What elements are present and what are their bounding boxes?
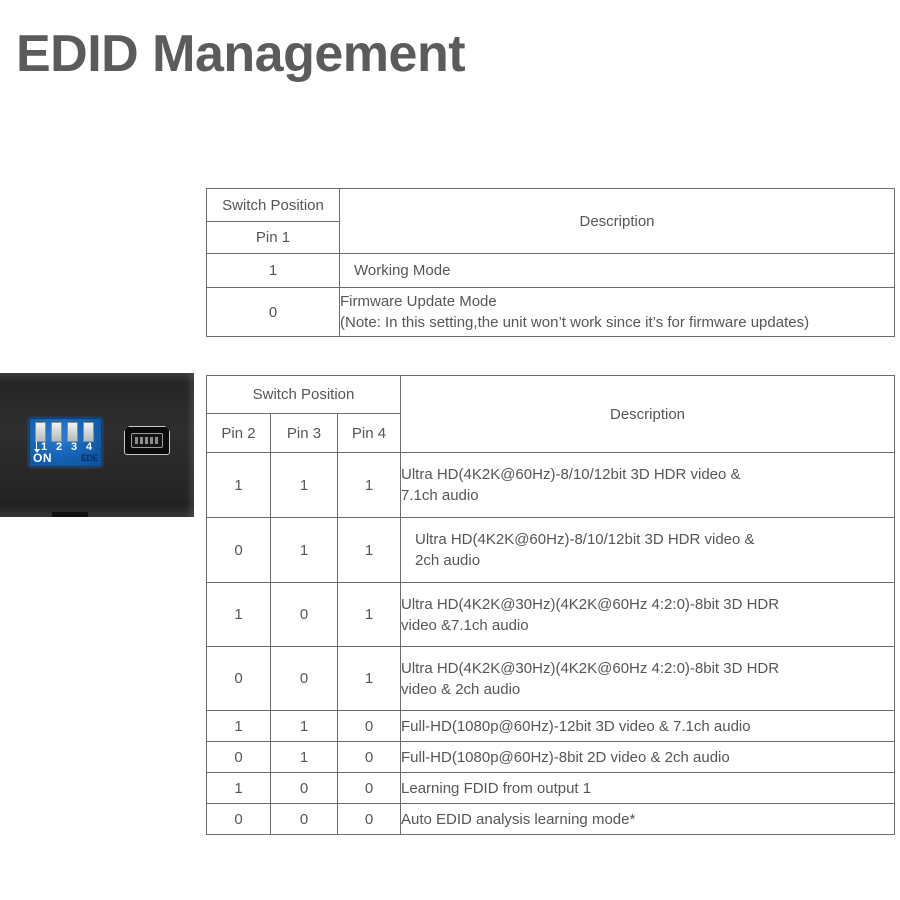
usb-pin: [135, 437, 138, 444]
column-header-description: Description: [340, 189, 895, 254]
table-row: 1 1 1 Ultra HD(4K2K@60Hz)-8/10/12bit 3D …: [207, 453, 895, 518]
cell-pin1-value: 1: [207, 254, 340, 288]
cell-pin2-value: 0: [207, 518, 271, 583]
column-header-pin-2: Pin 2: [207, 414, 271, 453]
dip-switch-block: 1 2 3 4 ON EDE: [29, 418, 102, 467]
cell-pin4-value: 1: [338, 583, 401, 647]
cell-pin4-value: 0: [338, 742, 401, 773]
usb-pin: [145, 437, 148, 444]
cell-pin2-value: 0: [207, 742, 271, 773]
page-title: EDID Management: [16, 24, 465, 84]
cell-pin3-value: 1: [271, 518, 338, 583]
mini-usb-port-icon: [124, 426, 168, 453]
cell-description: Firmware Update Mode (Note: In this sett…: [340, 288, 895, 337]
cell-description: Full-HD(1080p@60Hz)-8bit 2D video & 2ch …: [401, 742, 895, 773]
table-row: 0 1 0 Full-HD(1080p@60Hz)-8bit 2D video …: [207, 742, 895, 773]
description-line-2: video &7.1ch audio: [401, 615, 894, 636]
device-top-bevel: [0, 373, 194, 383]
table-row: 1 0 0 Learning FDID from output 1: [207, 773, 895, 804]
cell-pin1-value: 0: [207, 288, 340, 337]
table-header-row: Switch Position Description: [207, 376, 895, 414]
cell-description: Ultra HD(4K2K@60Hz)-8/10/12bit 3D HDR vi…: [401, 453, 895, 518]
usb-pin: [150, 437, 153, 444]
column-header-description: Description: [401, 376, 895, 453]
table-row: 0 0 0 Auto EDID analysis learning mode*: [207, 804, 895, 835]
column-header-pin-1: Pin 1: [207, 222, 340, 254]
column-header-switch-position: Switch Position: [207, 376, 401, 414]
cell-pin2-value: 1: [207, 711, 271, 742]
cell-description: Ultra HD(4K2K@30Hz)(4K2K@60Hz 4:2:0)-8bi…: [401, 583, 895, 647]
cell-description: Auto EDID analysis learning mode*: [401, 804, 895, 835]
column-header-switch-position: Switch Position: [207, 189, 340, 222]
description-line-1: Ultra HD(4K2K@30Hz)(4K2K@60Hz 4:2:0)-8bi…: [401, 658, 894, 679]
cell-description: Ultra HD(4K2K@60Hz)-8/10/12bit 3D HDR vi…: [401, 518, 895, 583]
device-front-panel-image: 1 2 3 4 ON EDE: [0, 373, 194, 517]
description-line-1: Ultra HD(4K2K@60Hz)-8/10/12bit 3D HDR vi…: [401, 464, 894, 485]
device-foot: [52, 512, 88, 517]
table-row: 0 Firmware Update Mode (Note: In this se…: [207, 288, 895, 337]
table-row: 0 0 1 Ultra HD(4K2K@30Hz)(4K2K@60Hz 4:2:…: [207, 647, 895, 711]
dip-slider-1-icon: [35, 422, 46, 442]
cell-pin3-value: 0: [271, 804, 338, 835]
usb-pin: [155, 437, 158, 444]
cell-description: Working Mode: [340, 254, 895, 288]
dip-pin-number-3: 3: [69, 441, 79, 453]
table-row: 1 0 1 Ultra HD(4K2K@30Hz)(4K2K@60Hz 4:2:…: [207, 583, 895, 647]
table-row: 1 Working Mode: [207, 254, 895, 288]
description-line-1: Ultra HD(4K2K@30Hz)(4K2K@60Hz 4:2:0)-8bi…: [401, 594, 894, 615]
cell-pin2-value: 0: [207, 647, 271, 711]
dip-slider-2-icon: [51, 422, 62, 442]
cell-pin3-value: 1: [271, 742, 338, 773]
cell-pin2-value: 1: [207, 773, 271, 804]
cell-pin4-value: 0: [338, 711, 401, 742]
usb-port-cavity: [131, 433, 163, 448]
cell-pin4-value: 0: [338, 773, 401, 804]
description-line-2: 2ch audio: [415, 550, 894, 571]
cell-description: Full-HD(1080p@60Hz)-12bit 3D video & 7.1…: [401, 711, 895, 742]
dip-slider-4-icon: [83, 422, 94, 442]
cell-pin3-value: 1: [271, 711, 338, 742]
cell-pin2-value: 1: [207, 453, 271, 518]
cell-pin3-value: 1: [271, 453, 338, 518]
dip-manufacturer-logo-icon: EDE: [68, 453, 98, 463]
cell-pin4-value: 1: [338, 647, 401, 711]
cell-pin3-value: 0: [271, 773, 338, 804]
description-line-2: 7.1ch audio: [401, 485, 894, 506]
device-edge-highlight: [186, 373, 194, 517]
table-header-row: Switch Position Description: [207, 189, 895, 222]
dip-slider-3-icon: [67, 422, 78, 442]
cell-pin3-value: 0: [271, 583, 338, 647]
dip-pin-number-4: 4: [84, 441, 94, 453]
pin1-switch-position-table: Switch Position Description Pin 1 1 Work…: [206, 188, 895, 337]
description-line-1: Firmware Update Mode: [340, 291, 894, 312]
pins234-switch-position-table: Switch Position Description Pin 2 Pin 3 …: [206, 375, 895, 835]
dip-pin-number-2: 2: [54, 441, 64, 453]
dip-on-label: ON: [33, 452, 52, 465]
cell-pin2-value: 0: [207, 804, 271, 835]
usb-pin: [140, 437, 143, 444]
description-line-2: (Note: In this setting,the unit won’t wo…: [340, 312, 894, 333]
table-row: 1 1 0 Full-HD(1080p@60Hz)-12bit 3D video…: [207, 711, 895, 742]
cell-pin4-value: 0: [338, 804, 401, 835]
cell-description: Learning FDID from output 1: [401, 773, 895, 804]
cell-pin2-value: 1: [207, 583, 271, 647]
table-row: 0 1 1 Ultra HD(4K2K@60Hz)-8/10/12bit 3D …: [207, 518, 895, 583]
column-header-pin-3: Pin 3: [271, 414, 338, 453]
description-line-1: Ultra HD(4K2K@60Hz)-8/10/12bit 3D HDR vi…: [415, 529, 894, 550]
device-bottom-bevel: [0, 503, 194, 517]
cell-pin3-value: 0: [271, 647, 338, 711]
cell-pin4-value: 1: [338, 518, 401, 583]
description-line-2: video & 2ch audio: [401, 679, 894, 700]
cell-pin4-value: 1: [338, 453, 401, 518]
cell-description: Ultra HD(4K2K@30Hz)(4K2K@60Hz 4:2:0)-8bi…: [401, 647, 895, 711]
column-header-pin-4: Pin 4: [338, 414, 401, 453]
